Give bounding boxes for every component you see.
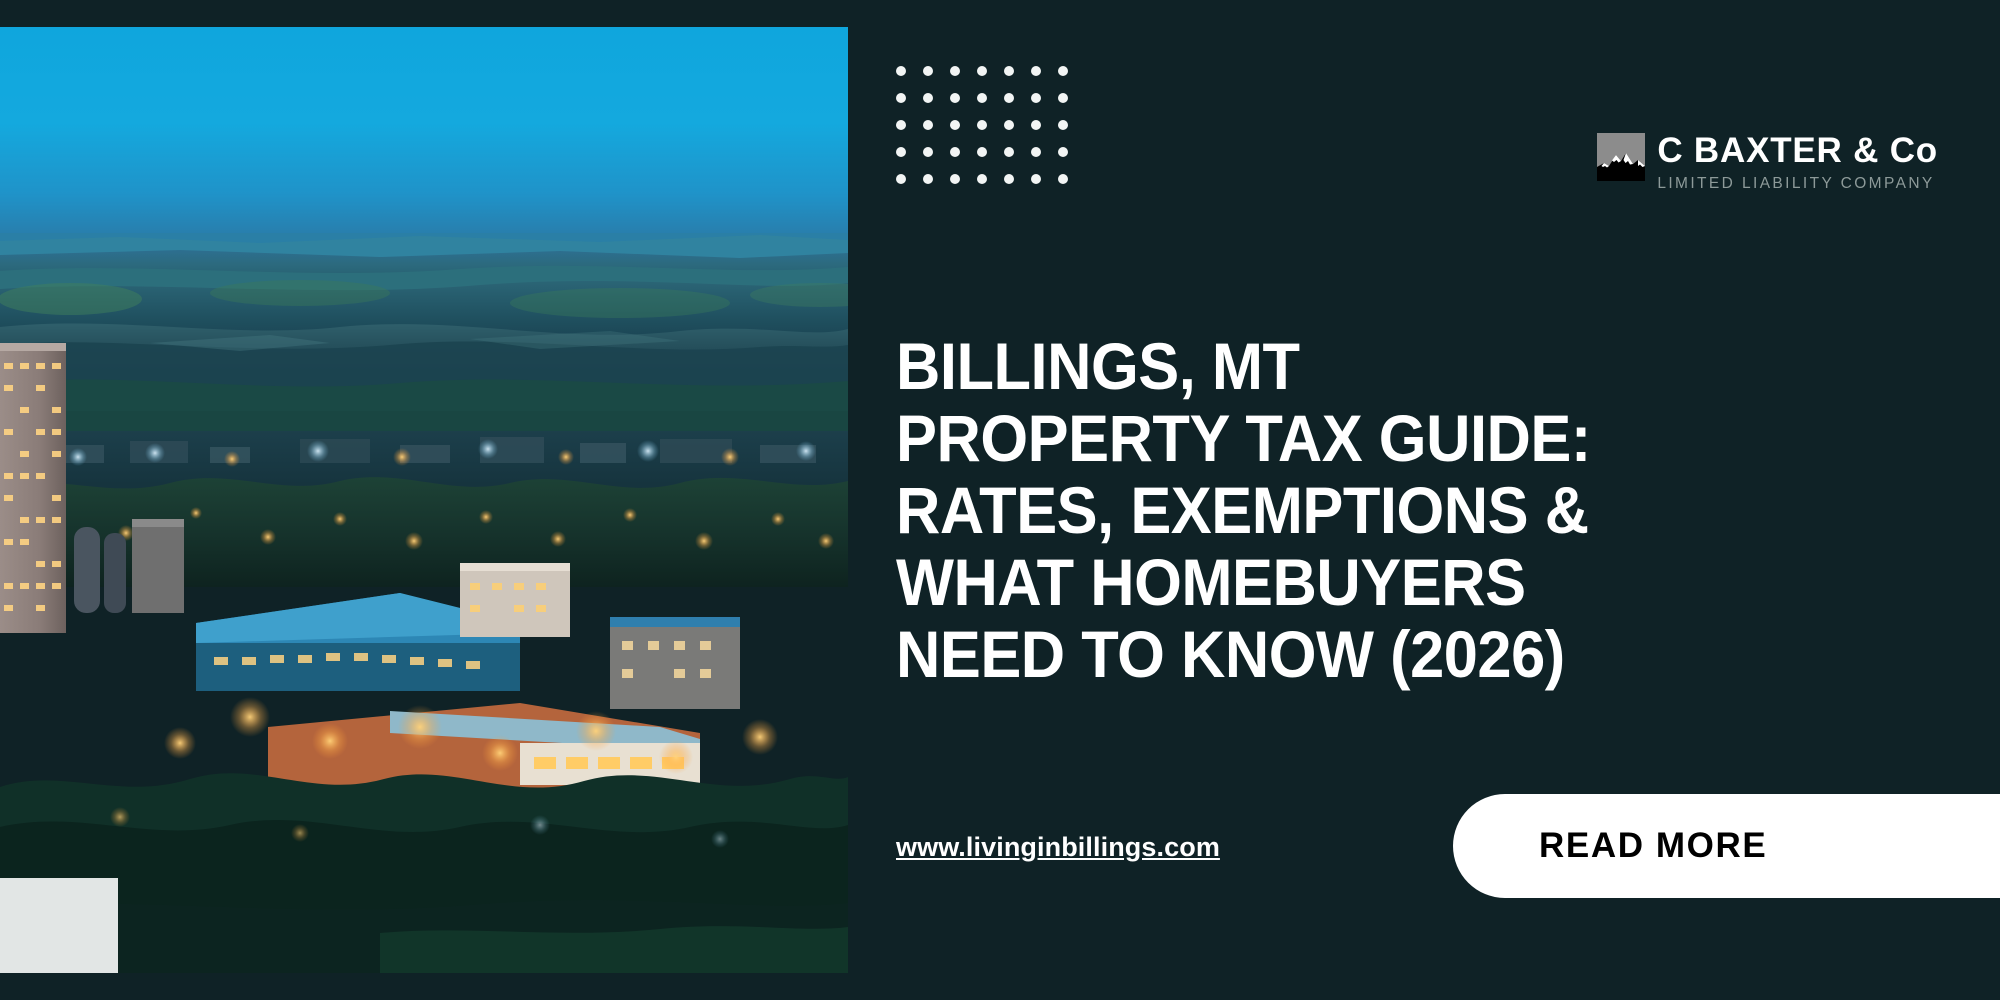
grid-dot [1031,93,1041,103]
headline-line-3: RATES, EXEMPTIONS & [896,474,1835,546]
social-promo-banner: C BAXTER & Co LIMITED LIABILITY COMPANY … [0,0,2000,1000]
grid-dot [1031,174,1041,184]
headline-line-5: NEED TO KNOW (2026) [896,618,1835,690]
dot-grid-pattern [896,66,1085,201]
grid-dot [977,66,987,76]
logo-company-name: C BAXTER & Co [1657,133,1938,168]
mountain-icon [1597,133,1645,181]
grid-dot [977,174,987,184]
grid-dot [950,174,960,184]
grid-dot [1058,120,1068,130]
city-photo [0,27,848,973]
grid-dot [896,93,906,103]
grid-dot [923,93,933,103]
grid-dot [1058,66,1068,76]
grid-dot [923,147,933,157]
read-more-button[interactable]: READ MORE [1453,794,2000,898]
grid-dot [1058,147,1068,157]
page-title: BILLINGS, MT PROPERTY TAX GUIDE: RATES, … [896,330,1835,690]
grid-dot [923,174,933,184]
grid-dot [1058,93,1068,103]
grid-dot [1004,120,1014,130]
grid-dot [1004,66,1014,76]
grid-dot [1004,174,1014,184]
downtown-tower [0,343,66,633]
logo-text-block: C BAXTER & Co LIMITED LIABILITY COMPANY [1657,133,1938,192]
grid-dot [1058,174,1068,184]
logo-company-subtitle: LIMITED LIABILITY COMPANY [1657,176,1938,192]
foreground-buildings [196,563,740,803]
grid-dot [977,120,987,130]
grid-dot [1031,120,1041,130]
grid-dot [950,66,960,76]
grid-dot [896,147,906,157]
photo-corner-overlay [0,878,118,973]
grid-dot [1004,93,1014,103]
brand-logo[interactable]: C BAXTER & Co LIMITED LIABILITY COMPANY [1597,133,1938,192]
grid-dot [896,66,906,76]
grid-dot [1031,66,1041,76]
grid-dot [977,93,987,103]
grid-dot [1031,147,1041,157]
headline-line-4: WHAT HOMEBUYERS [896,546,1835,618]
grid-dot [1004,147,1014,157]
headline-line-1: BILLINGS, MT [896,330,1835,402]
website-url[interactable]: www.livinginbillings.com [896,832,1220,863]
grid-dot [923,66,933,76]
headline-line-2: PROPERTY TAX GUIDE: [896,402,1835,474]
grid-dot [896,174,906,184]
grid-dot [950,147,960,157]
grid-dot [977,147,987,157]
grid-dot [950,120,960,130]
grid-dot [923,120,933,130]
city-photo-artwork [0,27,848,973]
grid-dot [896,120,906,130]
grid-dot [950,93,960,103]
